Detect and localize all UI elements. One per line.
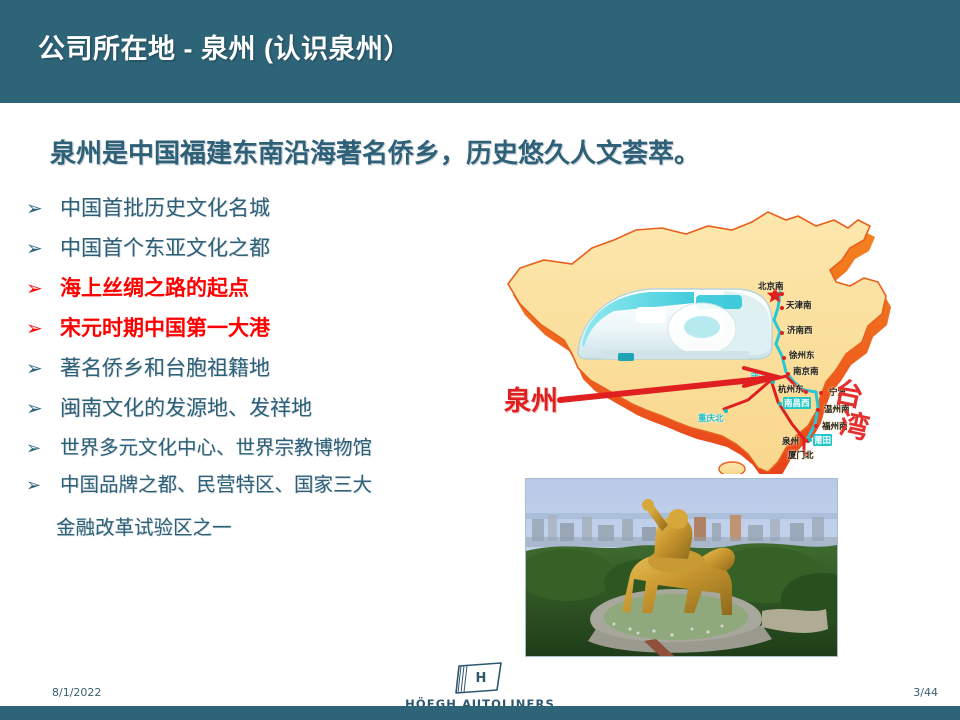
list-item: ➢ 世界多元文化中心、世界宗教博物馆 [22, 436, 492, 460]
list-item-label: 著名侨乡和台胞祖籍地 [60, 356, 492, 382]
list-item: ➢ 中国品牌之都、民营特区、国家三大 [22, 473, 492, 497]
city-dot [816, 408, 820, 412]
list-item: ➢ 著名侨乡和台胞祖籍地 [22, 356, 492, 383]
china-rail-map: 北京南天津南济南西徐州东南京南武汉杭州东宁波南昌西温州南重庆北福州南泉州莆田厦门… [486, 186, 958, 474]
china-map-graphic [486, 186, 958, 474]
city-dot [804, 390, 808, 394]
arrow-bullet-icon: ➢ [22, 396, 60, 423]
list-item-label: 闽南文化的发源地、发祥地 [60, 396, 492, 422]
hoegh-flag-logo-icon: H [451, 660, 509, 696]
list-item-label: 宋元时期中国第一大港 [60, 316, 492, 342]
arrow-bullet-icon: ➢ [22, 276, 60, 303]
city-dot [780, 292, 784, 296]
list-item-highlighted: ➢ 宋元时期中国第一大港 [22, 316, 492, 343]
slide-header-bar: 公司所在地 - 泉州 (认识泉州） [0, 0, 960, 103]
list-item-label: 中国首个东亚文化之都 [60, 236, 492, 262]
arrow-bullet-icon: ➢ [22, 473, 60, 497]
city-dot [819, 391, 823, 395]
list-item-label-continued: 金融改革试验区之一 [56, 511, 492, 540]
quanzhou-callout-label: 泉州 [504, 379, 558, 418]
city-label: 北京南 [758, 280, 784, 292]
list-item: ➢ 中国首批历史文化名城 [22, 196, 492, 223]
list-item: ➢ 中国首个东亚文化之都 [22, 236, 492, 263]
arrow-bullet-icon: ➢ [22, 236, 60, 263]
brand-footer: H HÖEGH AUTOLINERS [0, 660, 960, 711]
arrow-bullet-icon: ➢ [22, 196, 60, 223]
svg-text:H: H [476, 671, 487, 686]
city-label: 南昌西 [783, 397, 811, 409]
city-label: 徐州东 [789, 349, 815, 361]
arrow-bullet-icon: ➢ [22, 436, 60, 460]
city-dot [782, 356, 786, 360]
list-item-label: 中国品牌之都、民营特区、国家三大 [60, 473, 492, 497]
city-dot [778, 402, 782, 406]
city-dot [808, 438, 812, 442]
page-title: 公司所在地 - 泉州 (认识泉州） [38, 27, 411, 66]
list-item-label: 中国首批历史文化名城 [60, 196, 492, 222]
city-label: 厦门北 [788, 449, 814, 461]
slide-bottom-bar [0, 706, 960, 720]
subtitle-text: 泉州是中国福建东南沿海著名侨乡，历史悠久人文荟萃。 [50, 133, 930, 170]
city-label: 泉州 [782, 435, 799, 447]
city-dot [786, 372, 790, 376]
statue-photo-graphic [526, 479, 837, 656]
arrow-bullet-icon: ➢ [22, 356, 60, 383]
city-label: 南京南 [793, 365, 819, 377]
taiwan-char-2: 湾 [837, 409, 872, 444]
slide: 公司所在地 - 泉州 (认识泉州） 泉州是中国福建东南沿海著名侨乡，历史悠久人文… [0, 0, 960, 720]
city-label: 重庆北 [698, 412, 724, 424]
city-dot [724, 409, 728, 413]
list-item: ➢ 闽南文化的发源地、发祥地 [22, 396, 492, 423]
city-dot [780, 306, 784, 310]
list-item-label: 世界多元文化中心、世界宗教博物馆 [60, 436, 492, 460]
city-label: 武汉 [750, 371, 767, 383]
city-dot [771, 380, 775, 384]
list-item-highlighted: ➢ 海上丝绸之路的起点 [22, 276, 492, 303]
city-dot [814, 424, 818, 428]
list-item-label: 海上丝绸之路的起点 [60, 276, 492, 302]
city-dot [780, 331, 784, 335]
quanzhou-statue-photo [525, 478, 838, 657]
city-label: 天津南 [786, 299, 812, 311]
city-label: 济南西 [787, 324, 813, 336]
city-label: 杭州东 [778, 383, 804, 395]
arrow-bullet-icon: ➢ [22, 316, 60, 343]
feature-bullet-list: ➢ 中国首批历史文化名城 ➢ 中国首个东亚文化之都 ➢ 海上丝绸之路的起点 ➢ … [22, 196, 492, 540]
